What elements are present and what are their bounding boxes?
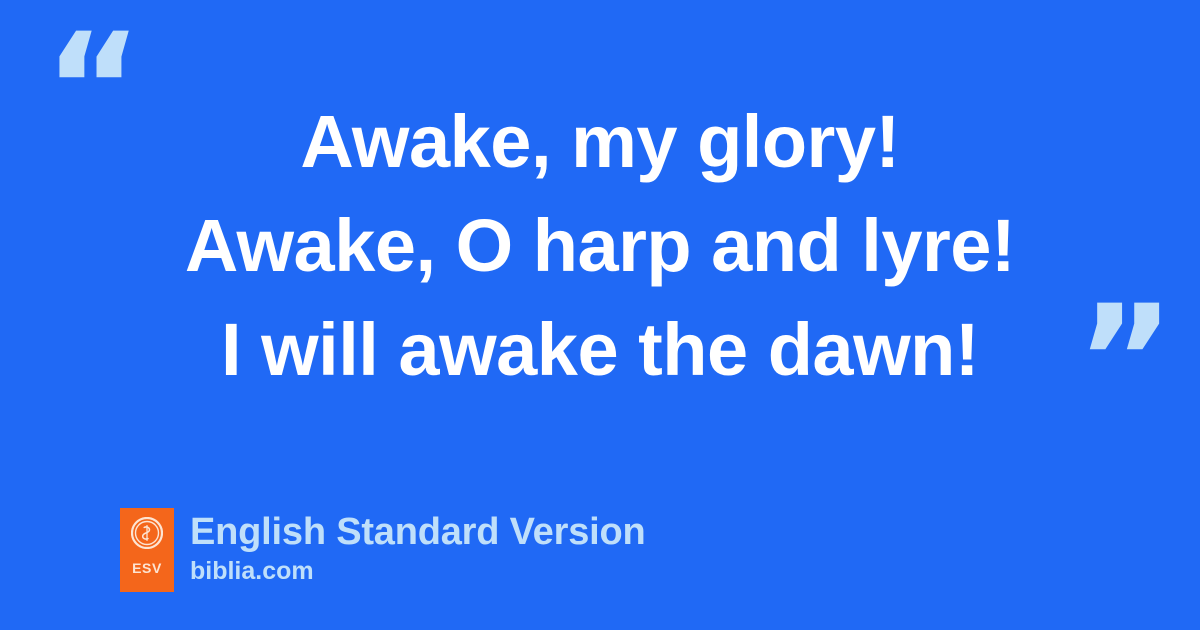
quote-line: Awake, my glory! <box>60 90 1140 194</box>
esv-logo: ESV <box>120 508 174 592</box>
quote-line: Awake, O harp and lyre! <box>60 194 1140 298</box>
version-name: English Standard Version <box>190 510 646 554</box>
quote-line: I will awake the dawn! <box>60 298 1140 402</box>
attribution-text: English Standard Version biblia.com <box>190 508 646 586</box>
attribution: ESV English Standard Version biblia.com <box>120 508 646 592</box>
quote-card: “ Awake, my glory! Awake, O harp and lyr… <box>0 0 1200 630</box>
esv-logo-label: ESV <box>132 560 162 576</box>
quote-text-block: Awake, my glory! Awake, O harp and lyre!… <box>0 90 1200 402</box>
esv-seal-icon <box>131 517 163 549</box>
close-quote-icon: ” <box>1076 286 1175 436</box>
site-url: biblia.com <box>190 556 646 586</box>
